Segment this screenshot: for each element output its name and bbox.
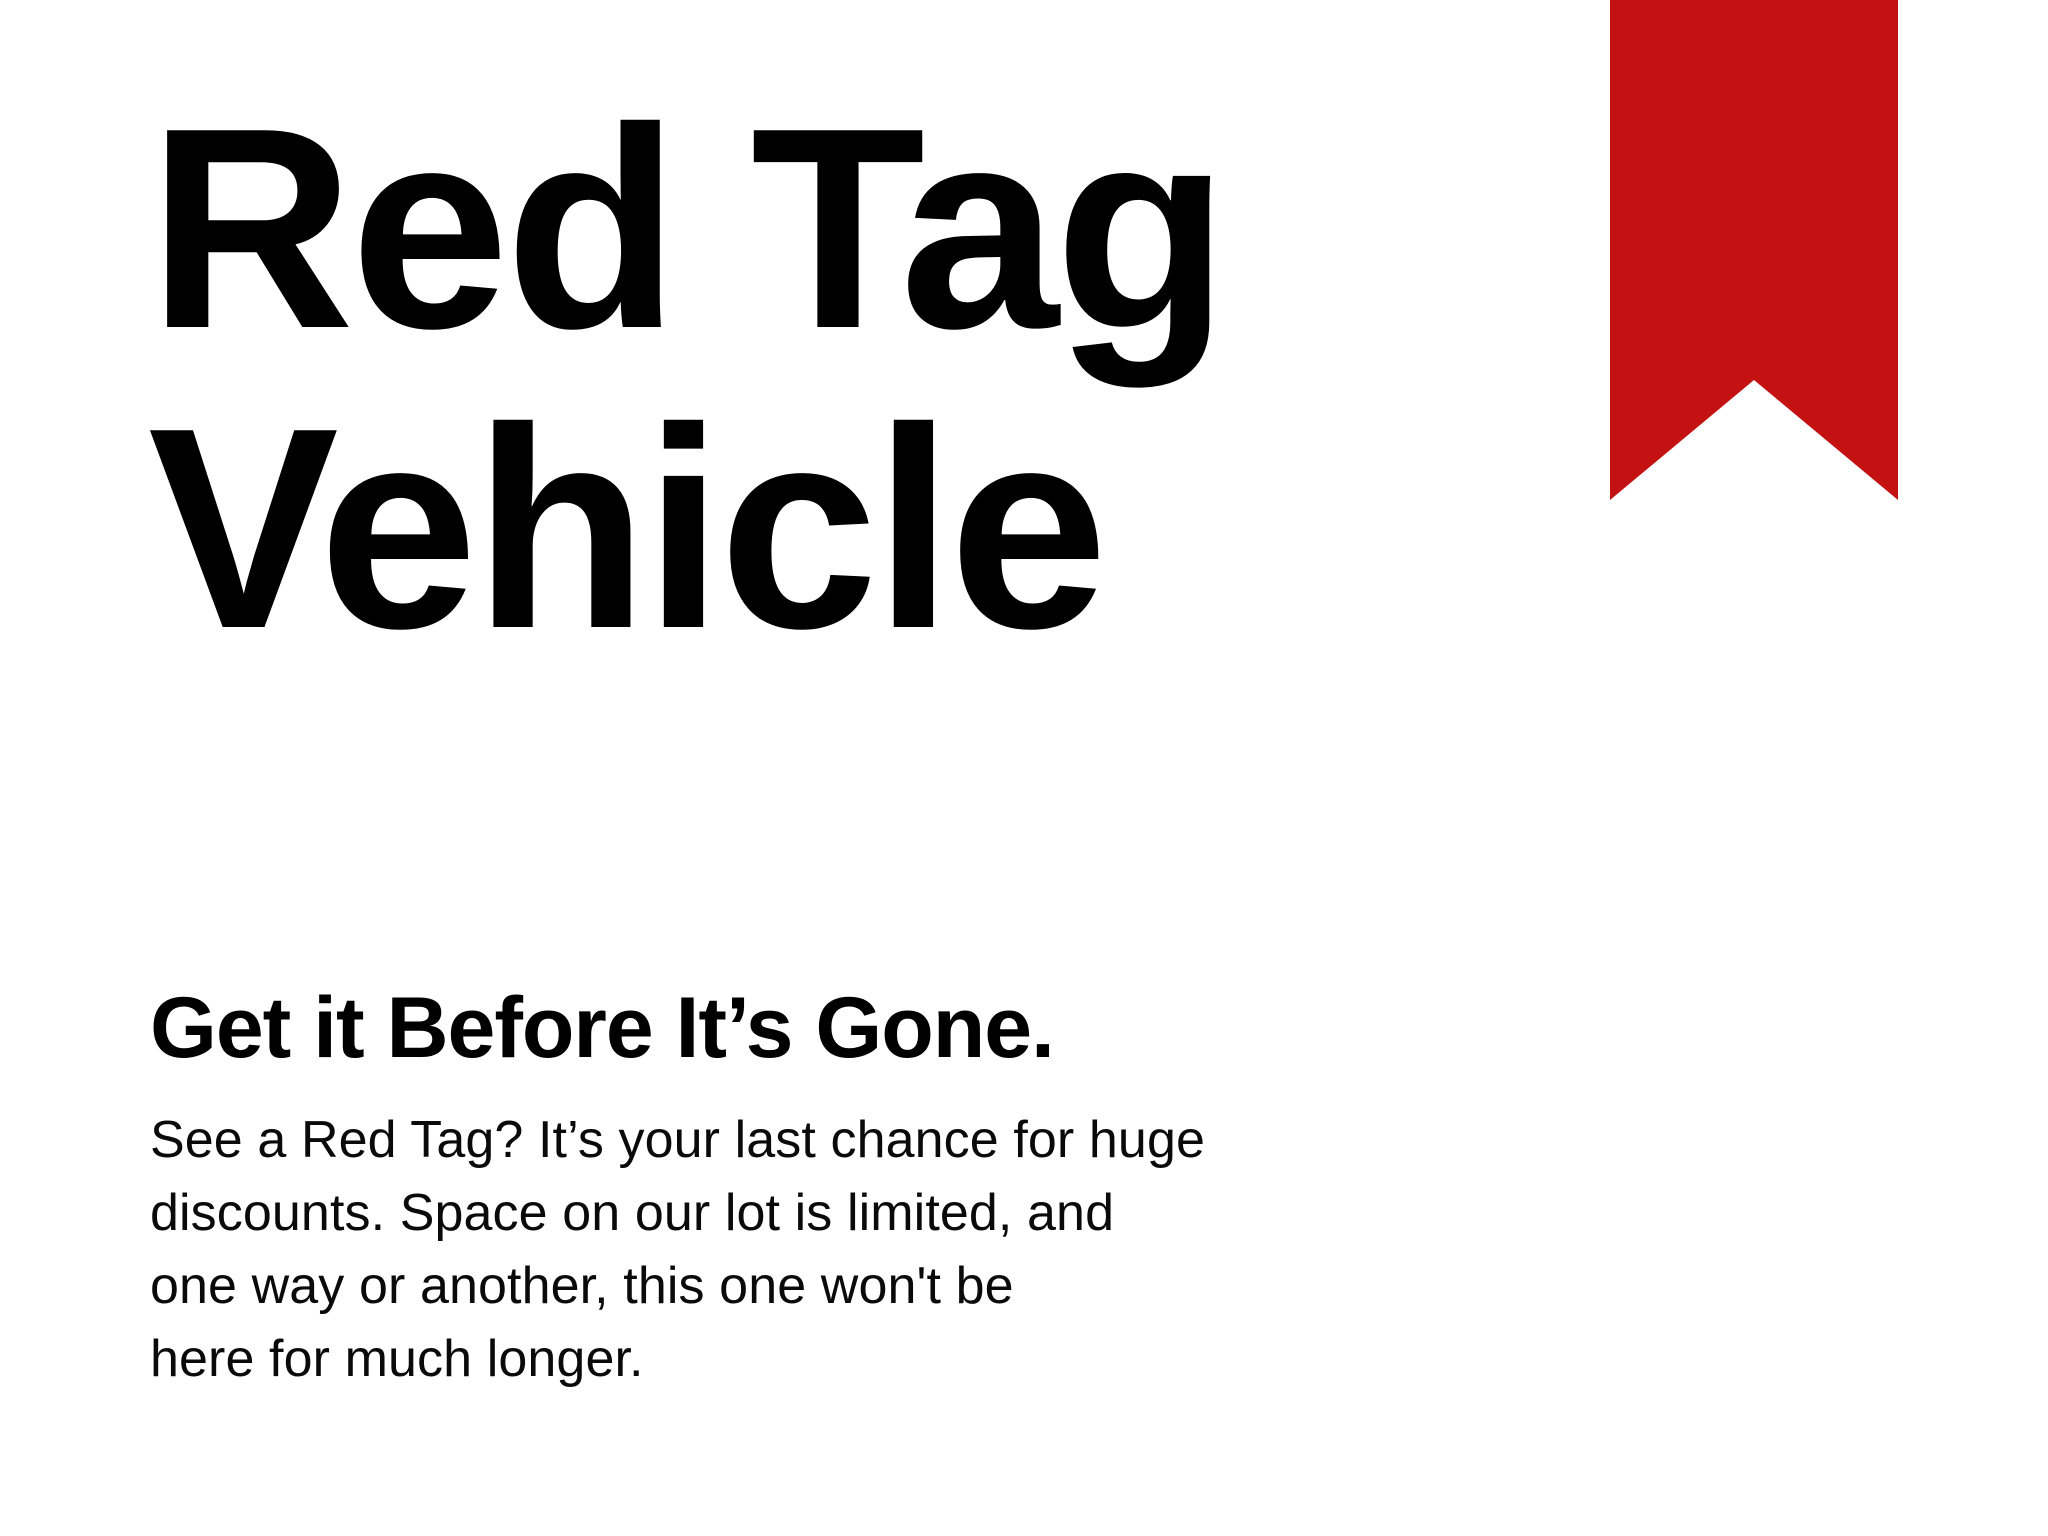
body-line-2: discounts. Space on our lot is limited, … [150,1177,1350,1250]
red-tag-ribbon [1610,0,1898,500]
body-paragraph: See a Red Tag? It’s your last chance for… [150,1104,1350,1396]
body-line-4: here for much longer. [150,1323,1350,1396]
ribbon-bookmark-icon [1610,0,1898,500]
body-line-1: See a Red Tag? It’s your last chance for… [150,1104,1350,1177]
headline-line-2: Vehicle [148,378,1528,678]
promo-banner: Red Tag Vehicle Get it Before It’s Gone.… [0,0,2048,1536]
page-title: Red Tag Vehicle [148,78,1528,678]
body-line-3: one way or another, this one won't be [150,1250,1350,1323]
subheading: Get it Before It’s Gone. [150,980,1054,1076]
headline-line-1: Red Tag [148,78,1528,378]
